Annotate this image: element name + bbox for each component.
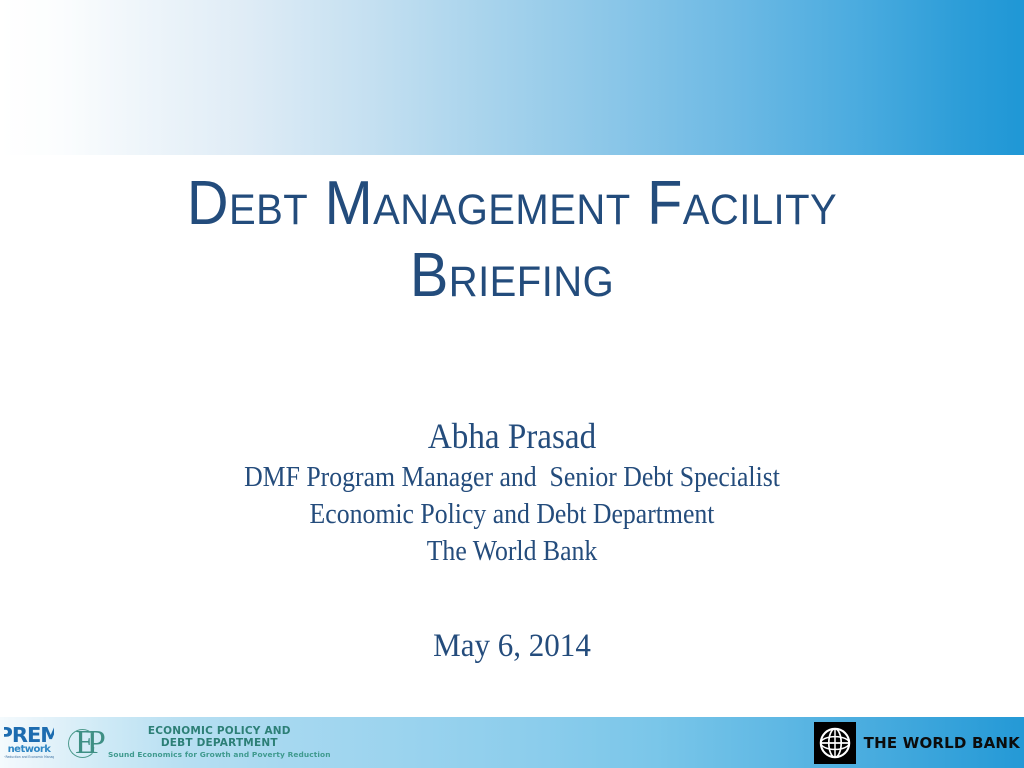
title-line-2: Briefing xyxy=(36,240,988,312)
slide-title: Debt Management Facility Briefing xyxy=(0,168,1024,312)
ep-logo-tagline: Sound Economics for Growth and Poverty R… xyxy=(108,749,331,760)
ep-logo-line-2: DEBT DEPARTMENT xyxy=(108,737,331,749)
footer-band: PREM network Poverty Reduction and Econo… xyxy=(0,717,1024,768)
slide-date: May 6, 2014 xyxy=(31,626,994,666)
top-banner-gradient xyxy=(0,0,1024,155)
presenter-block: Abha Prasad DMF Program Manager and Seni… xyxy=(0,413,1024,666)
globe-icon xyxy=(814,722,856,764)
ep-monogram-icon: EP xyxy=(66,723,106,763)
presenter-name: Abha Prasad xyxy=(41,413,983,459)
prem-logo-mark: PREM xyxy=(4,726,54,745)
economic-policy-department-logo: EP ECONOMIC POLICY AND DEBT DEPARTMENT S… xyxy=(66,720,331,765)
ep-logo-text: ECONOMIC POLICY AND DEBT DEPARTMENT Soun… xyxy=(108,725,331,760)
ep-logo-line-1: ECONOMIC POLICY AND xyxy=(108,725,331,737)
ep-monogram-ring xyxy=(68,729,97,758)
prem-logo-tagline: Poverty Reduction and Economic Managemen… xyxy=(4,755,54,760)
world-bank-label: THE WORLD BANK xyxy=(864,734,1020,752)
title-line-1: Debt Management Facility xyxy=(36,168,988,240)
presenter-role: DMF Program Manager and Senior Debt Spec… xyxy=(41,459,983,496)
presenter-department: Economic Policy and Debt Department xyxy=(41,496,983,533)
presenter-organization: The World Bank xyxy=(41,533,983,570)
prem-network-logo: PREM network Poverty Reduction and Econo… xyxy=(4,722,54,764)
world-bank-logo: THE WORLD BANK xyxy=(814,721,1020,764)
